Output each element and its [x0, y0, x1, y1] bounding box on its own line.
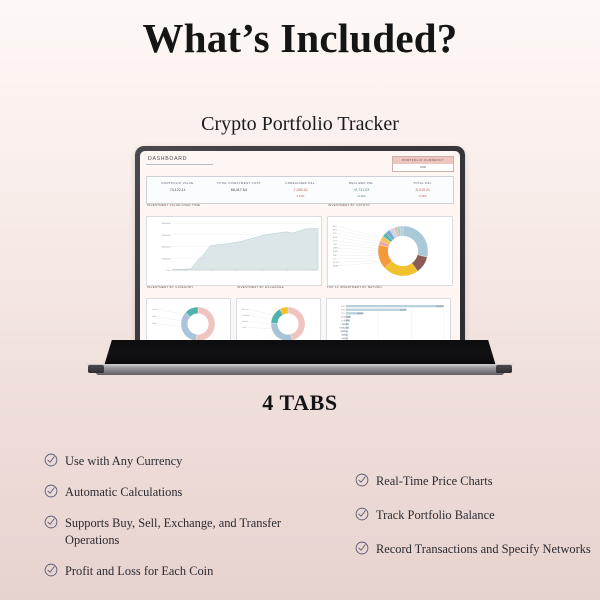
- donut-chart-exchange: BinanceCoinbaseKrakenOther: [240, 302, 319, 344]
- svg-text:100.00%: 100.00%: [436, 306, 443, 308]
- kpi-label: TOTAL P&L: [392, 181, 453, 185]
- kpi-value: 68,417.64: [208, 188, 269, 192]
- panel-title: INVESTMENT VALUE OVER TIME: [147, 203, 200, 207]
- feature-label: Supports Buy, Sell, Exchange, and Transf…: [65, 514, 314, 548]
- svg-text:ADA: ADA: [333, 236, 338, 239]
- feature-label: Real-Time Price Charts: [376, 472, 493, 489]
- chart-row-top: INVESTMENT VALUE OVER TIME 0.0020000.004…: [146, 209, 454, 286]
- feature-label: Profit and Loss for Each Coin: [65, 562, 213, 579]
- svg-text:2.00%: 2.00%: [342, 334, 347, 336]
- svg-text:LTC: LTC: [333, 258, 337, 260]
- horizontal-bar-chart: BTC100.00%ETH62.00%SOL18.00%ADA5.00%DOT4…: [330, 302, 449, 344]
- feature-label: Use with Any Currency: [65, 452, 182, 469]
- laptop-keyboard-deck: [104, 340, 496, 366]
- svg-text:ATOM: ATOM: [333, 261, 339, 264]
- svg-text:Other: Other: [242, 326, 247, 329]
- svg-text:60000.00: 60000.00: [162, 235, 172, 237]
- svg-text:0.00: 0.00: [166, 270, 171, 272]
- kpi-value: 74,122.11: [147, 188, 208, 192]
- svg-text:20000.00: 20000.00: [162, 258, 172, 260]
- dashboard-app: DASHBOARD PORTFOLIO CURRENCY USD PORTFOL…: [140, 151, 460, 349]
- kpi-subvalue: -7.41%: [269, 195, 330, 198]
- kpi-realized-pnl: REALIZED P&L +2,731.03 +4.11%: [331, 181, 392, 198]
- svg-text:SOL: SOL: [341, 313, 345, 315]
- svg-text:ETH: ETH: [341, 309, 345, 311]
- kpi-unrealized-pnl: UNREALIZED P&L -7,085.42 -7.41%: [269, 181, 330, 198]
- check-circle-icon: [44, 515, 58, 529]
- kpi-row: PORTFOLIO VALUE 74,122.11 TOTAL INVESTME…: [146, 176, 454, 204]
- kpi-total-pnl: TOTAL P&L -5,019.41 -5.43%: [392, 181, 453, 198]
- kpi-subvalue: +4.11%: [331, 195, 392, 198]
- check-circle-icon: [355, 507, 369, 521]
- check-circle-icon: [355, 541, 369, 555]
- kpi-portfolio-value: PORTFOLIO VALUE 74,122.11: [147, 181, 208, 198]
- panel-title: INVESTMENT BY CATEGORY: [147, 285, 194, 289]
- svg-text:Kraken: Kraken: [242, 320, 248, 323]
- area-chart: 0.0020000.0040000.0060000.0080000.00————…: [150, 220, 320, 282]
- kpi-label: PORTFOLIO VALUE: [147, 181, 208, 185]
- kpi-value: +2,731.03: [331, 188, 392, 192]
- svg-text:4.00%: 4.00%: [344, 320, 349, 322]
- svg-text:BTC: BTC: [333, 226, 337, 228]
- kpi-subvalue: -5.43%: [392, 195, 453, 198]
- feature-label: Track Portfolio Balance: [376, 506, 495, 523]
- panel-investment-value-over-time: INVESTMENT VALUE OVER TIME 0.0020000.004…: [146, 209, 322, 286]
- svg-text:80000.00: 80000.00: [162, 223, 172, 225]
- panel-title: INVESTMENT BY EXCHANGE: [237, 285, 284, 289]
- kpi-total-investment-cost: TOTAL INVESTMENT COST 68,417.64: [208, 181, 269, 198]
- check-circle-icon: [44, 563, 58, 577]
- portfolio-currency-selector[interactable]: PORTFOLIO CURRENCY USD: [392, 156, 454, 172]
- kpi-label: TOTAL INVESTMENT COST: [208, 181, 269, 185]
- tabs-count-label: 4 TABS: [0, 390, 600, 416]
- panel-investment-by-crypto: INVESTMENT BY CRYPTO BTCETHSOLADADOTLINK…: [327, 209, 453, 286]
- check-circle-icon: [44, 453, 58, 467]
- svg-text:2.00%: 2.00%: [342, 331, 347, 333]
- check-circle-icon: [355, 541, 369, 555]
- kpi-value: -5,019.41: [392, 188, 453, 192]
- donut-chart-category: Layer 1DeFiOther: [150, 302, 229, 344]
- donut-chart-crypto: BTCETHSOLADADOTLINKMATICAVAXXRPLTCATOMNE…: [331, 220, 451, 282]
- check-circle-icon: [44, 484, 58, 498]
- svg-text:62.00%: 62.00%: [400, 309, 406, 311]
- svg-text:AVAX: AVAX: [333, 250, 339, 253]
- laptop-mockup: DASHBOARD PORTFOLIO CURRENCY USD PORTFOL…: [80, 146, 520, 376]
- portfolio-currency-label: PORTFOLIO CURRENCY: [393, 157, 453, 164]
- feature-label: Record Transactions and Specify Networks: [376, 540, 591, 557]
- svg-text:3.00%: 3.00%: [343, 324, 348, 326]
- feature-item: Supports Buy, Sell, Exchange, and Transf…: [44, 514, 314, 548]
- check-circle-icon: [355, 507, 369, 521]
- page-title: What’s Included?: [0, 14, 600, 62]
- check-circle-icon: [44, 563, 58, 577]
- laptop-foot-right: [496, 365, 512, 373]
- dashboard-header: DASHBOARD PORTFOLIO CURRENCY USD: [146, 156, 454, 172]
- svg-text:DOT: DOT: [333, 240, 338, 242]
- laptop-lid: DASHBOARD PORTFOLIO CURRENCY USD PORTFOL…: [135, 146, 465, 353]
- svg-text:Binance: Binance: [242, 309, 249, 311]
- svg-text:MATIC: MATIC: [333, 246, 339, 249]
- feature-item: Profit and Loss for Each Coin: [44, 562, 314, 579]
- svg-text:2.00%: 2.00%: [342, 338, 347, 340]
- panel-top-investment-by-return: TOP 10 INVESTMENT BY RETURN BTC100.00%ET…: [326, 291, 451, 346]
- svg-text:Coinbase: Coinbase: [242, 315, 250, 317]
- check-circle-icon: [355, 473, 369, 487]
- feature-item: Real-Time Price Charts: [355, 472, 600, 489]
- feature-item: Use with Any Currency: [44, 452, 314, 469]
- check-circle-icon: [355, 473, 369, 487]
- feature-item: Automatic Calculations: [44, 483, 314, 500]
- panel-title: TOP 10 INVESTMENT BY RETURN: [327, 285, 382, 289]
- feature-list-left: Use with Any Currency Automatic Calculat…: [44, 452, 314, 594]
- kpi-value: -7,085.42: [269, 188, 330, 192]
- kpi-label: UNREALIZED P&L: [269, 181, 330, 185]
- feature-list-right: Real-Time Price Charts Track Portfolio B…: [355, 472, 600, 575]
- laptop-foot-left: [88, 365, 104, 373]
- svg-text:3.00%: 3.00%: [343, 327, 348, 329]
- svg-text:BTC: BTC: [341, 306, 345, 308]
- svg-text:DeFi: DeFi: [152, 316, 157, 318]
- check-circle-icon: [44, 453, 58, 467]
- kpi-label: REALIZED P&L: [331, 181, 392, 185]
- svg-text:40000.00: 40000.00: [162, 246, 172, 248]
- panel-investment-by-exchange: INVESTMENT BY EXCHANGE BinanceCoinbaseKr…: [236, 291, 321, 346]
- svg-text:ETH: ETH: [333, 229, 337, 231]
- panel-title: INVESTMENT BY CRYPTO: [328, 203, 370, 207]
- laptop-screen: DASHBOARD PORTFOLIO CURRENCY USD PORTFOL…: [140, 151, 460, 349]
- dashboard-title: DASHBOARD: [146, 156, 213, 165]
- svg-text:LINK: LINK: [333, 244, 338, 246]
- portfolio-currency-value[interactable]: USD: [393, 164, 453, 171]
- check-circle-icon: [44, 484, 58, 498]
- svg-text:Layer 1: Layer 1: [152, 308, 158, 311]
- svg-text:Other: Other: [152, 322, 157, 325]
- panel-investment-by-category: INVESTMENT BY CATEGORY Layer 1DeFiOther: [146, 291, 231, 346]
- feature-item: Record Transactions and Specify Networks: [355, 540, 600, 557]
- check-circle-icon: [44, 515, 58, 529]
- svg-text:XRP: XRP: [333, 255, 338, 257]
- feature-label: Automatic Calculations: [65, 483, 182, 500]
- svg-text:18.00%: 18.00%: [357, 313, 363, 315]
- svg-text:SOL: SOL: [333, 233, 337, 235]
- page-subtitle: Crypto Portfolio Tracker: [0, 113, 600, 136]
- laptop-base: [80, 364, 520, 375]
- feature-item: Track Portfolio Balance: [355, 506, 600, 523]
- chart-row-bottom: INVESTMENT BY CATEGORY Layer 1DeFiOther …: [146, 291, 454, 346]
